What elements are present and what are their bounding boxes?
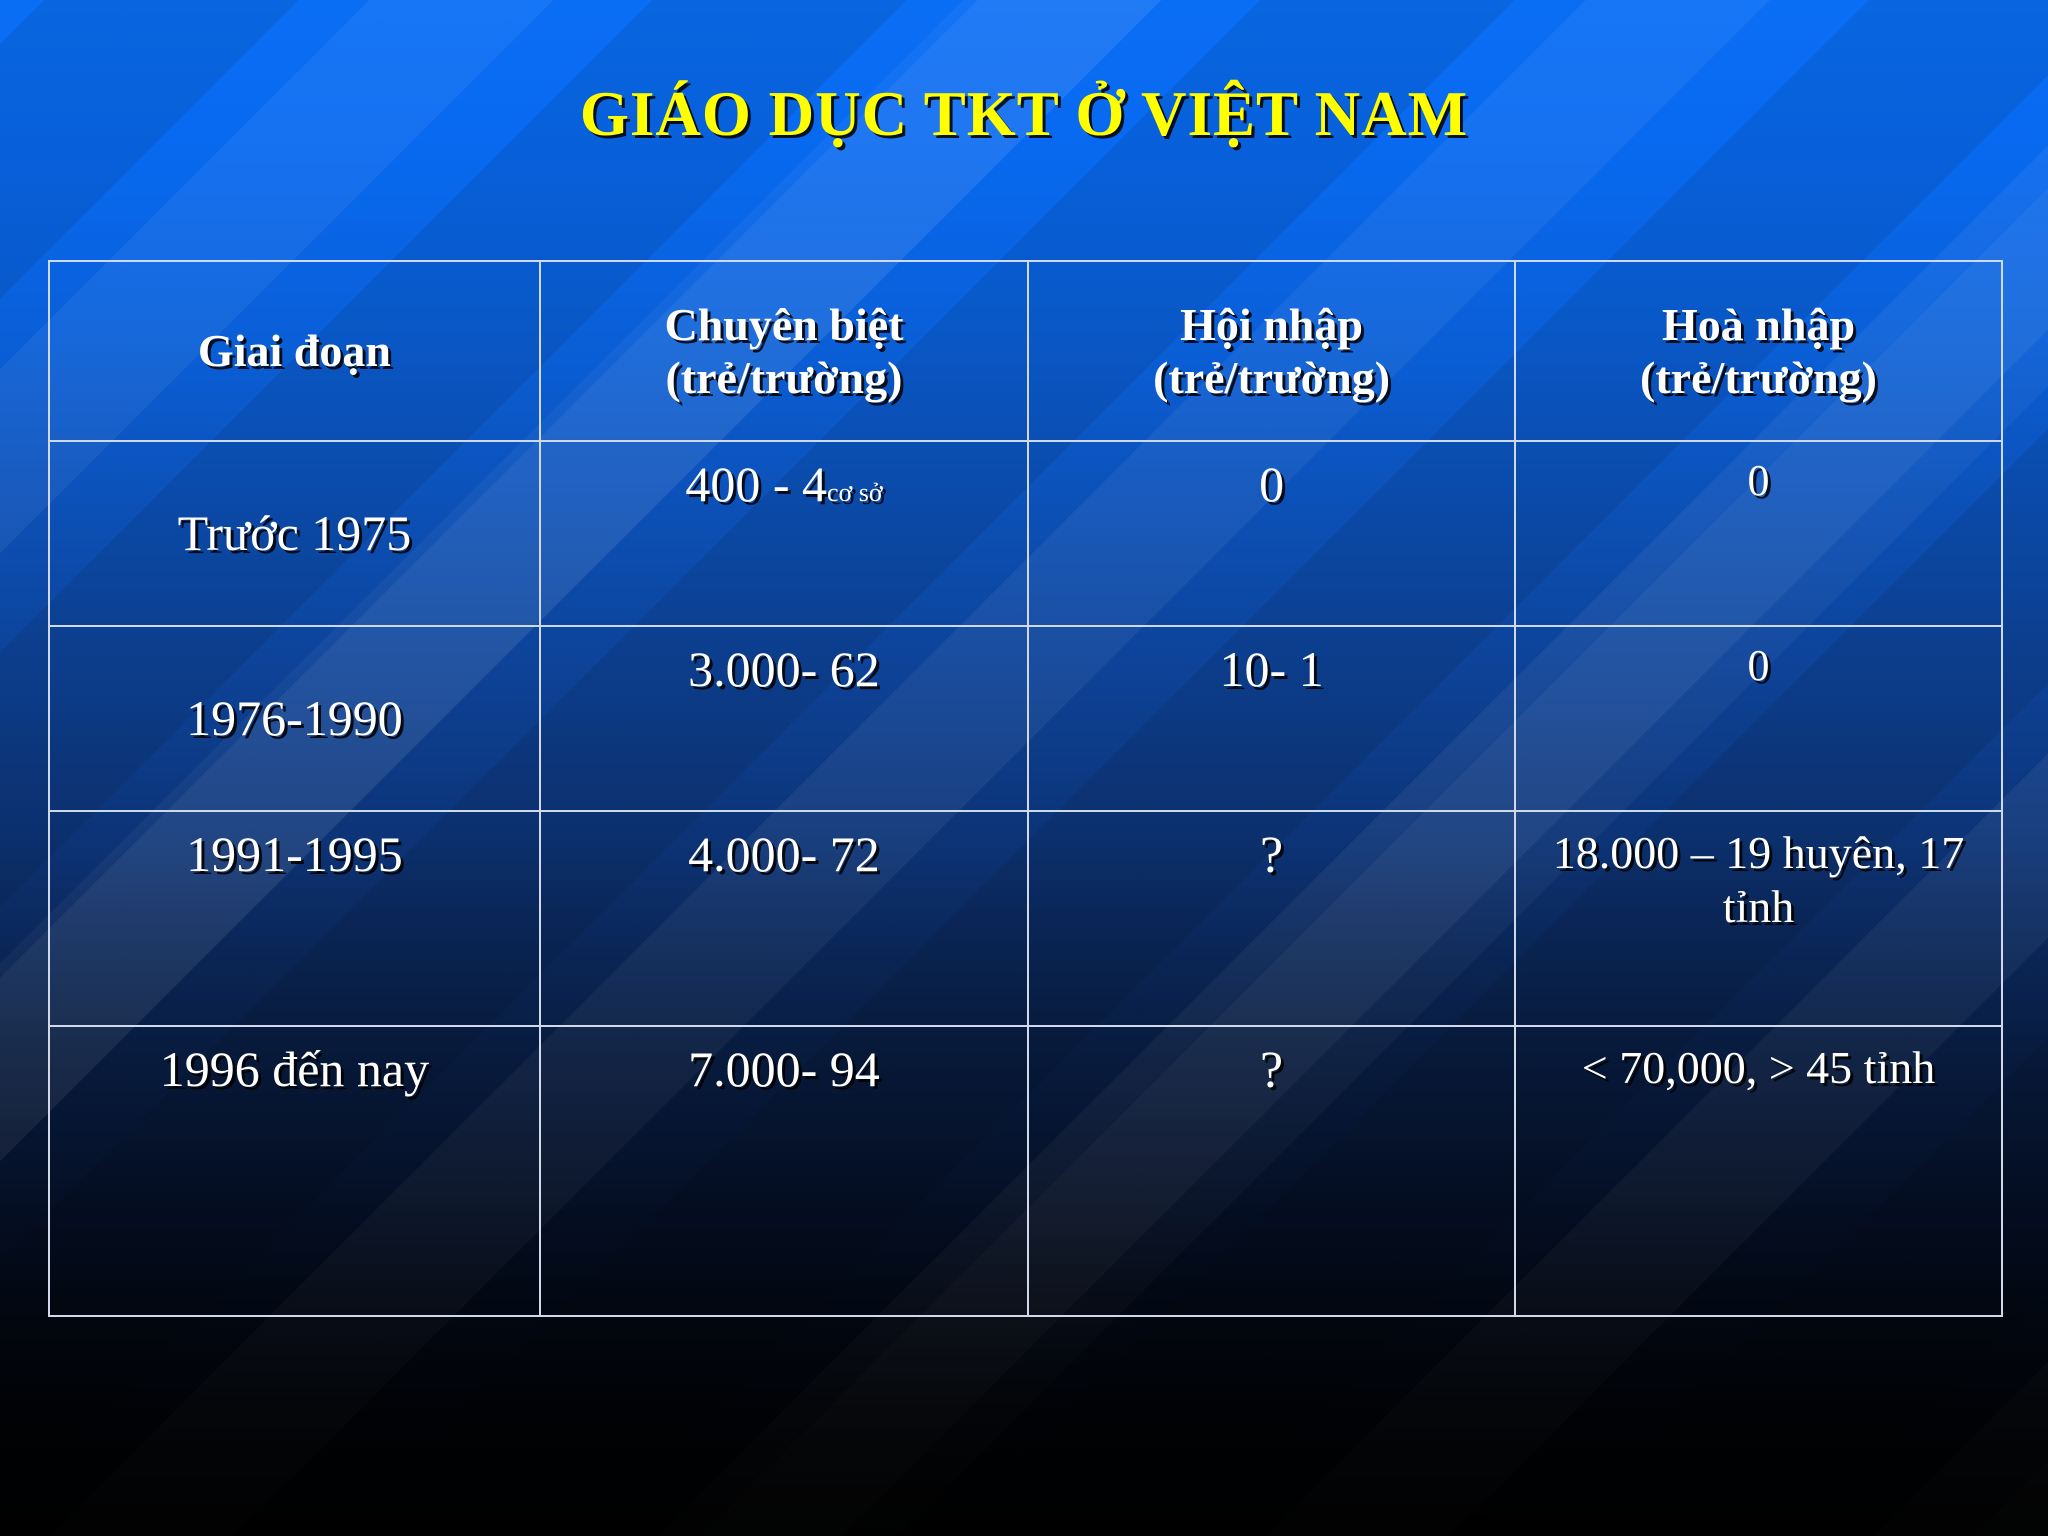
cell-hoa-nhap: 18.000 – 19 huyên, 17 tỉnh — [1515, 811, 2002, 1026]
cell-period: 1976-1990 — [49, 626, 540, 811]
cell-value-main: 3.000- 62 — [688, 641, 880, 697]
table-row: Trước 1975 400 - 4cơ sở 0 0 — [49, 441, 2002, 626]
header-line-2: (trẻ/trường) — [549, 351, 1019, 404]
header-line-1: Hoà nhập — [1524, 298, 1993, 351]
column-header-hoa-nhap: Hoà nhập (trẻ/trường) — [1515, 261, 2002, 441]
header-line-2: (trẻ/trường) — [1037, 351, 1506, 404]
cell-period: 1996 đến nay — [49, 1026, 540, 1316]
education-statistics-table: Giai đoạn Chuyên biệt (trẻ/trường) Hội n… — [48, 260, 2003, 1317]
column-header-hoi-nhap: Hội nhập (trẻ/trường) — [1028, 261, 1515, 441]
cell-hoa-nhap: 0 — [1515, 626, 2002, 811]
table-row: 1976-1990 3.000- 62 10- 1 0 — [49, 626, 2002, 811]
table-header-row: Giai đoạn Chuyên biệt (trẻ/trường) Hội n… — [49, 261, 2002, 441]
header-line-1: Giai đoạn — [58, 324, 531, 377]
column-header-chuyen-biet: Chuyên biệt (trẻ/trường) — [540, 261, 1028, 441]
cell-hoa-nhap: < 70,000, > 45 tỉnh — [1515, 1026, 2002, 1316]
table-row: 1991-1995 4.000- 72 ? 18.000 – 19 huyên,… — [49, 811, 2002, 1026]
cell-hoi-nhap: ? — [1028, 811, 1515, 1026]
cell-chuyen-biet: 4.000- 72 — [540, 811, 1028, 1026]
cell-value-main: 4.000- 72 — [688, 826, 880, 882]
cell-period: Trước 1975 — [49, 441, 540, 626]
header-line-1: Chuyên biệt — [549, 298, 1019, 351]
cell-value-main: 400 - 4 — [685, 456, 827, 512]
table-row: 1996 đến nay 7.000- 94 ? < 70,000, > 45 … — [49, 1026, 2002, 1316]
table-header-row-group: Giai đoạn Chuyên biệt (trẻ/trường) Hội n… — [49, 261, 2002, 441]
column-header-period: Giai đoạn — [49, 261, 540, 441]
cell-hoa-nhap: 0 — [1515, 441, 2002, 626]
cell-hoi-nhap: 0 — [1028, 441, 1515, 626]
cell-value-main: 7.000- 94 — [688, 1041, 880, 1097]
cell-chuyen-biet: 7.000- 94 — [540, 1026, 1028, 1316]
slide-title: GIÁO DỤC TKT Ở VIỆT NAM — [0, 78, 2048, 151]
cell-period: 1991-1995 — [49, 811, 540, 1026]
table-body: Trước 1975 400 - 4cơ sở 0 0 1976-1990 3.… — [49, 441, 2002, 1316]
cell-value-unit: cơ sở — [827, 478, 883, 507]
cell-chuyen-biet: 3.000- 62 — [540, 626, 1028, 811]
cell-chuyen-biet: 400 - 4cơ sở — [540, 441, 1028, 626]
presentation-slide: GIÁO DỤC TKT Ở VIỆT NAM Giai đoạn Chuyên… — [0, 0, 2048, 1536]
cell-hoi-nhap: 10- 1 — [1028, 626, 1515, 811]
data-table-container: Giai đoạn Chuyên biệt (trẻ/trường) Hội n… — [48, 260, 2003, 1315]
header-line-1: Hội nhập — [1037, 298, 1506, 351]
cell-hoi-nhap: ? — [1028, 1026, 1515, 1316]
header-line-2: (trẻ/trường) — [1524, 351, 1993, 404]
